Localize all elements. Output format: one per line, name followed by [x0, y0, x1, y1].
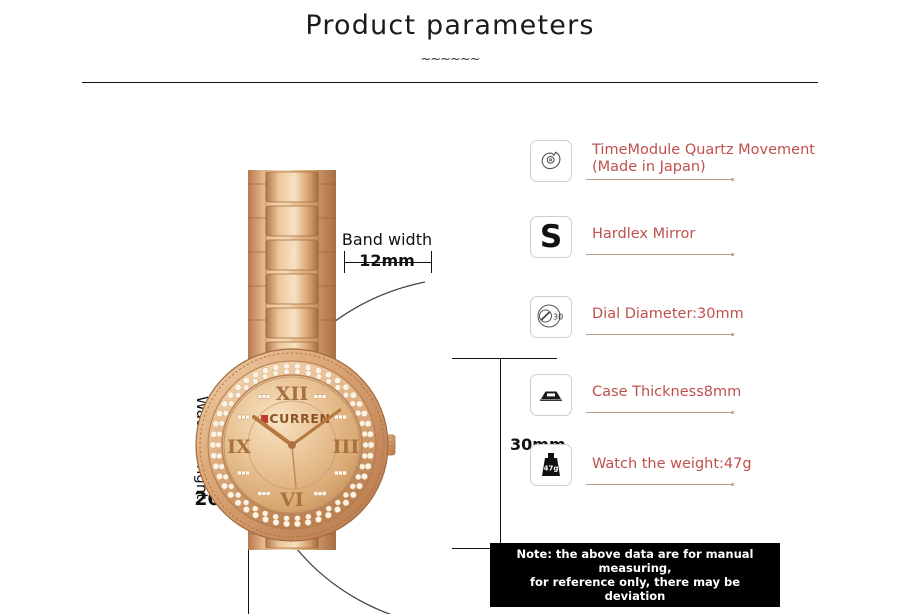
spec-underline-case-thickness: [586, 412, 732, 413]
numeral-9: IX: [227, 436, 251, 458]
spec-row-case-thickness: Case Thickness8mm: [530, 374, 880, 444]
hardlex-s-icon: S: [530, 216, 572, 258]
watch-diagram: Band width 12mm Watch Lenght 20cm: [100, 110, 500, 550]
movement-icon: [530, 140, 572, 182]
spec-list: TimeModule Quartz Movement (Made in Japa…: [530, 140, 880, 514]
dial-diameter-dimension-line: [500, 358, 501, 548]
dial-diameter-icon-number: 30: [553, 313, 563, 322]
measurement-note: Note: the above data are for manual meas…: [490, 543, 780, 607]
weight-icon-label: 47g: [544, 465, 559, 473]
page-title: Product parameters: [0, 10, 900, 41]
spec-row-hardlex: S Hardlex Mirror: [530, 216, 880, 296]
spec-underline-weight: [586, 484, 732, 485]
spec-label-dial-diameter: Dial Diameter:30mm: [592, 306, 744, 323]
header-divider: [82, 82, 818, 83]
product-parameters-page: Product parameters ~~~~~~ Band width 12m…: [0, 0, 900, 614]
spec-underline-movement: [586, 179, 732, 180]
spec-underline-dial-diameter: [586, 334, 732, 335]
weight-icon: 47g: [530, 444, 572, 486]
watch-illustration: XII III VI IX CURREN: [100, 110, 500, 550]
spec-label-case-thickness: Case Thickness8mm: [592, 384, 741, 401]
case-thickness-icon: [530, 374, 572, 416]
spec-underline-hardlex: [586, 254, 732, 255]
hardlex-s-letter: S: [540, 222, 562, 253]
dial-diameter-icon: 30: [530, 296, 572, 338]
title-squiggle-ornament: ~~~~~~: [0, 52, 900, 67]
spec-label-hardlex: Hardlex Mirror: [592, 226, 695, 243]
numeral-6: VI: [279, 489, 304, 511]
spec-row-weight: 47g Watch the weight:47g: [530, 444, 880, 514]
spec-label-weight: Watch the weight:47g: [592, 456, 752, 473]
spec-label-movement: TimeModule Quartz Movement (Made in Japa…: [592, 142, 815, 176]
spec-row-dial-diameter: 30 Dial Diameter:30mm: [530, 296, 880, 374]
numeral-3: III: [333, 436, 360, 458]
numeral-12: XII: [276, 383, 309, 405]
spec-row-movement: TimeModule Quartz Movement (Made in Japa…: [530, 140, 880, 216]
